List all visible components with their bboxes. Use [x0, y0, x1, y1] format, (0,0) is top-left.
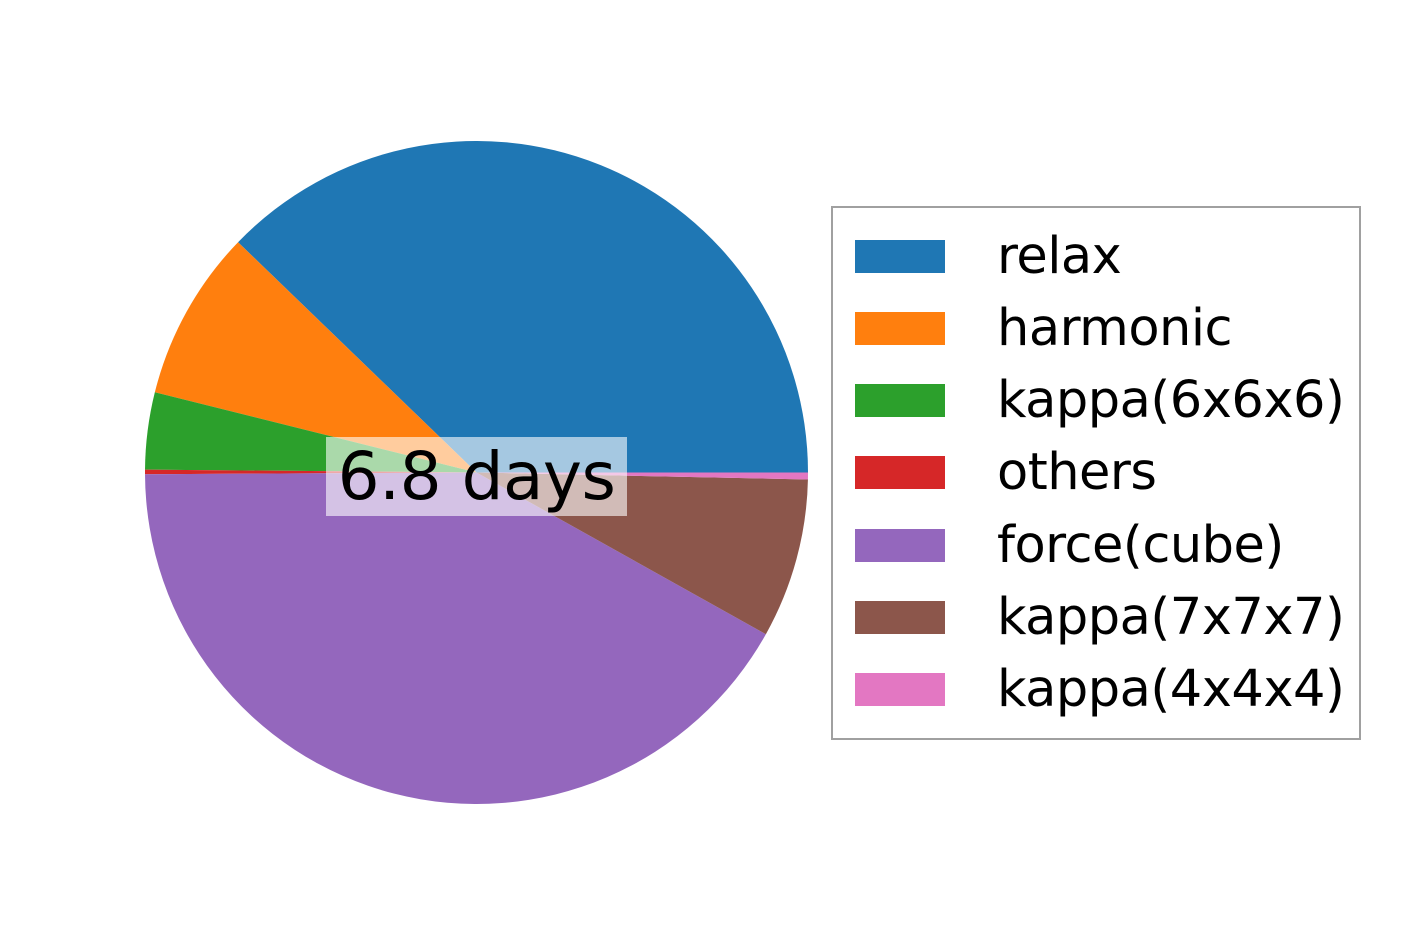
- legend-color-swatch: [855, 240, 945, 273]
- pie-chart-figure: 6.8 days relaxharmonickappa(6x6x6)others…: [0, 0, 1419, 951]
- legend-item-label: others: [997, 447, 1156, 498]
- legend-item-others[interactable]: others: [833, 443, 1359, 503]
- legend-color-swatch: [855, 673, 945, 706]
- legend-item-relax[interactable]: relax: [833, 226, 1359, 286]
- legend-item-label: relax: [997, 231, 1121, 282]
- legend-item-label: kappa(4x4x4): [997, 664, 1344, 715]
- legend-color-swatch: [855, 384, 945, 417]
- legend-item-kappa6x6x6[interactable]: kappa(6x6x6): [833, 371, 1359, 431]
- pie-center-annotation: 6.8 days: [326, 437, 627, 516]
- legend-item-label: kappa(6x6x6): [997, 375, 1344, 426]
- legend-item-kappa4x4x4[interactable]: kappa(4x4x4): [833, 660, 1359, 720]
- legend-color-swatch: [855, 529, 945, 562]
- legend-item-harmonic[interactable]: harmonic: [833, 298, 1359, 358]
- legend-color-swatch: [855, 456, 945, 489]
- legend-item-label: force(cube): [997, 520, 1284, 571]
- legend-color-swatch: [855, 312, 945, 345]
- legend-item-label: harmonic: [997, 303, 1232, 354]
- legend-item-kappa7x7x7[interactable]: kappa(7x7x7): [833, 588, 1359, 648]
- chart-legend-items: relaxharmonickappa(6x6x6)othersforce(cub…: [833, 208, 1359, 738]
- chart-legend: relaxharmonickappa(6x6x6)othersforce(cub…: [831, 206, 1361, 740]
- legend-item-label: kappa(7x7x7): [997, 592, 1344, 643]
- legend-item-forcecube[interactable]: force(cube): [833, 515, 1359, 575]
- legend-color-swatch: [855, 601, 945, 634]
- pie-center-annotation-label: 6.8 days: [338, 444, 616, 510]
